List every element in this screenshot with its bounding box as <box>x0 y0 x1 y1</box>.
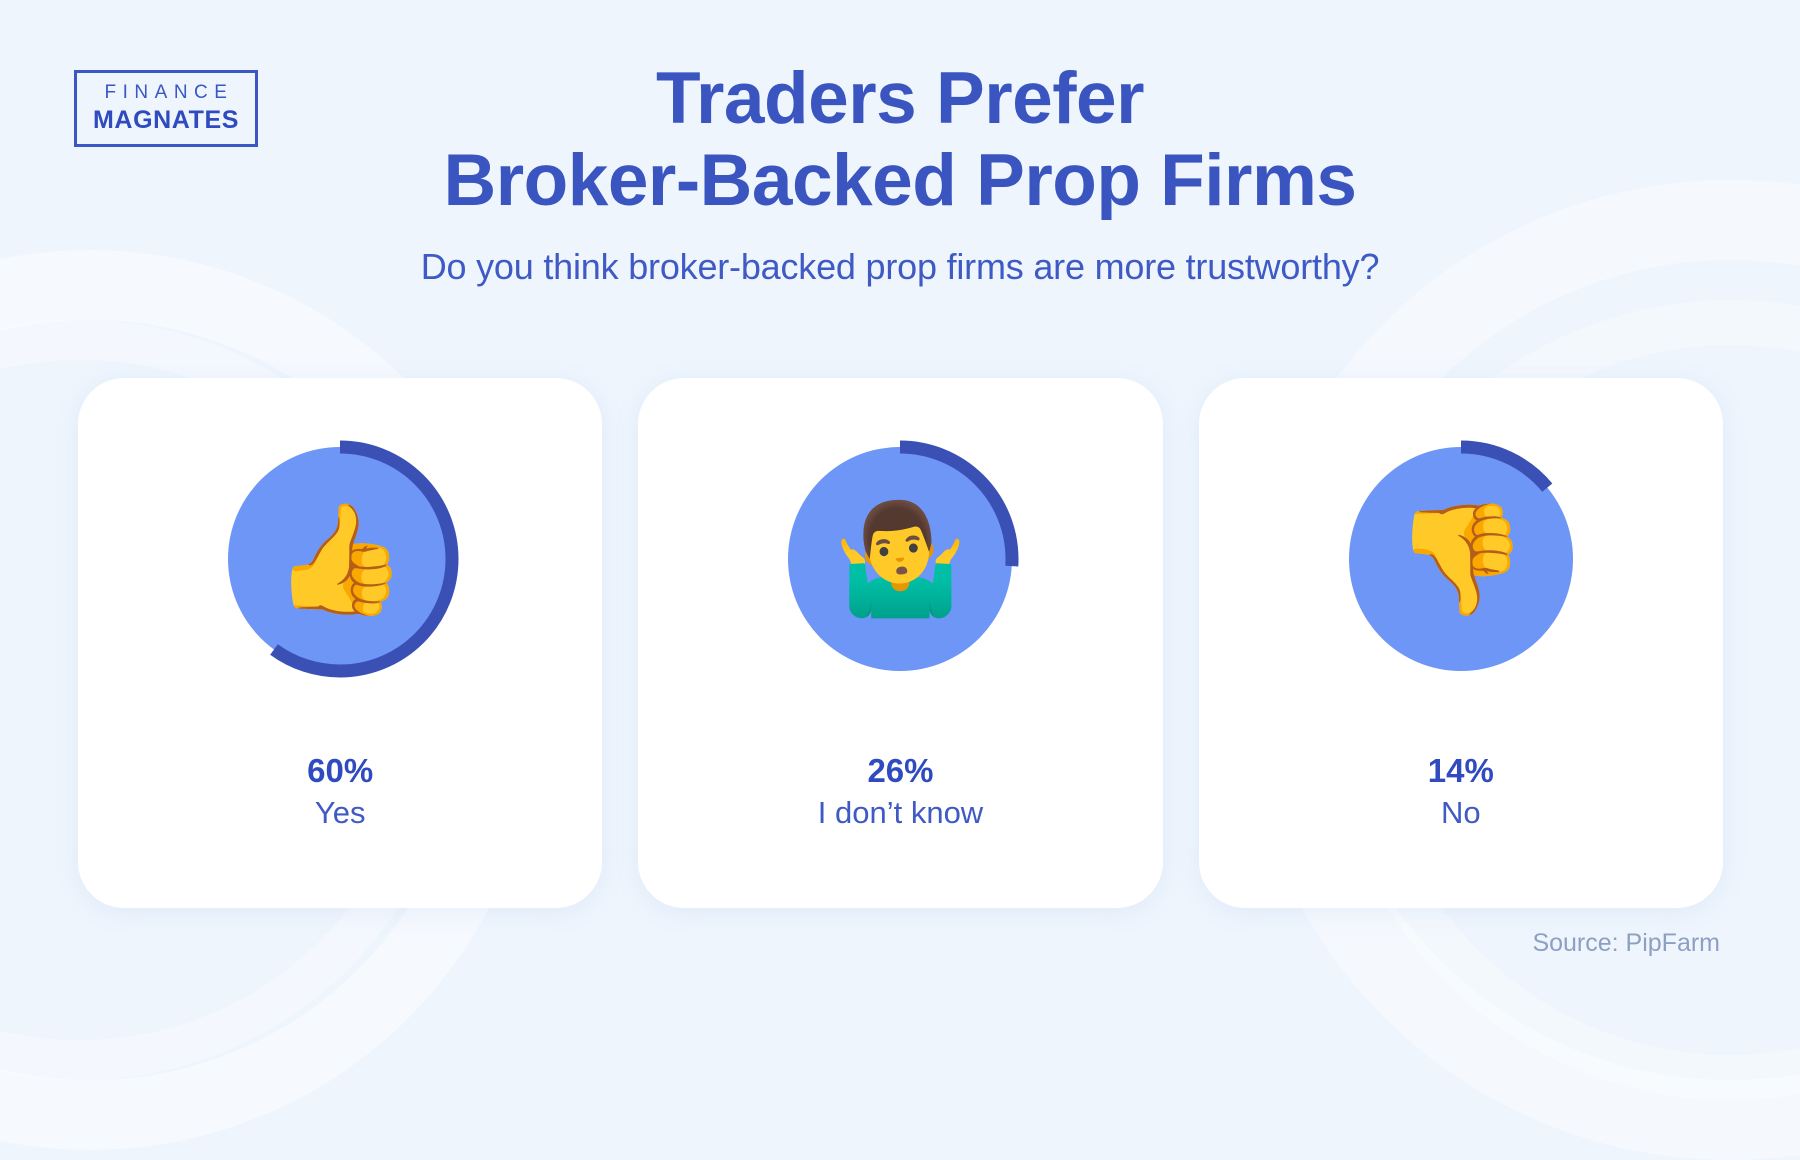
stat-card-yes: 👍 60% Yes <box>78 378 602 908</box>
stat-answer-no: No <box>1199 793 1723 833</box>
source-attribution: Source: PipFarm <box>1532 929 1720 958</box>
donut-chart-dont-know: 🤷‍♂️ <box>771 430 1029 688</box>
page-subtitle: Do you think broker-backed prop firms ar… <box>0 246 1800 288</box>
stat-text-yes: 60% Yes <box>78 750 602 834</box>
stat-text-no: 14% No <box>1199 750 1723 834</box>
thumbs-up-emoji: 👍 <box>211 430 469 688</box>
stat-percent-no: 14% <box>1199 750 1723 791</box>
stat-answer-yes: Yes <box>78 793 602 833</box>
stat-percent-dont-know: 26% <box>638 750 1162 791</box>
stat-answer-dont-know: I don’t know <box>638 793 1162 833</box>
donut-chart-yes: 👍 <box>211 430 469 688</box>
stat-card-list: 👍 60% Yes 🤷‍♂️ 26% I don’t know <box>78 378 1723 908</box>
stat-card-no: 👎 14% No <box>1199 378 1723 908</box>
stat-text-dont-know: 26% I don’t know <box>638 750 1162 834</box>
page-title-line-2: Broker-Backed Prop Firms <box>0 140 1800 222</box>
donut-chart-no: 👎 <box>1332 430 1590 688</box>
page-title-line-1: Traders Prefer <box>0 58 1800 140</box>
infographic-page: FINANCE MAGNATES Traders Prefer Broker-B… <box>0 0 1800 1000</box>
thumbs-down-emoji: 👎 <box>1332 430 1590 688</box>
stat-percent-yes: 60% <box>78 750 602 791</box>
shrug-emoji: 🤷‍♂️ <box>771 430 1029 688</box>
header-block: Traders Prefer Broker-Backed Prop Firms … <box>0 58 1800 288</box>
page-title: Traders Prefer Broker-Backed Prop Firms <box>0 58 1800 222</box>
stat-card-dont-know: 🤷‍♂️ 26% I don’t know <box>638 378 1162 908</box>
